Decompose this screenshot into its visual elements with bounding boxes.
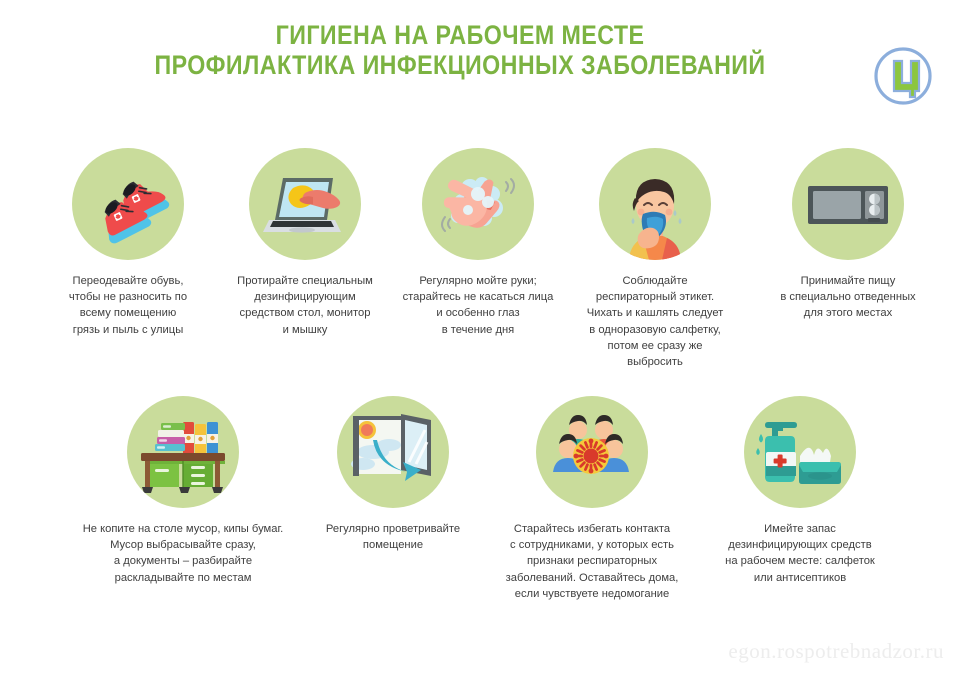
sneakers-icon	[72, 148, 184, 260]
site-watermark: egon.rospotrebnadzor.ru	[728, 639, 944, 664]
tip-card-eat-in-designated-areas: Принимайте пищу в специально отведенных …	[750, 148, 946, 322]
tip-card-keep-disinfectants: Имейте запас дезинфицирующих средств на …	[700, 396, 900, 586]
tip-caption: Не копите на столе мусор, кипы бумаг. Му…	[68, 521, 298, 586]
tip-card-keep-desk-clean: Не копите на столе мусор, кипы бумаг. Му…	[68, 396, 298, 586]
header: ГИГИЕНА НА РАБОЧЕМ МЕСТЕ ПРОФИЛАКТИКА ИН…	[0, 20, 960, 110]
tip-caption: Регулярно мойте руки; старайтесь не каса…	[390, 273, 566, 338]
tip-caption: Старайтесь избегать контакта с сотрудник…	[490, 521, 694, 602]
open-window-airflow-icon	[337, 396, 449, 508]
sanitizer-tissues-icon	[744, 396, 856, 508]
tip-caption: Принимайте пищу в специально отведенных …	[750, 273, 946, 322]
tip-caption: Регулярно проветривайте помещение	[300, 521, 486, 553]
tip-card-ventilate-room: Регулярно проветривайте помещение	[300, 396, 486, 553]
title-line-2: ПРОФИЛАКТИКА ИНФЕКЦИОННЫХ ЗАБОЛЕВАНИЙ	[116, 50, 804, 80]
sneeze-tissue-icon	[599, 148, 711, 260]
tip-caption: Переодевайте обувь, чтобы не разносить п…	[18, 273, 238, 338]
tip-card-respiratory-etiquette: Соблюдайте респираторный этикет. Чихать …	[562, 148, 748, 370]
rospotrebnadzor-logo-icon	[872, 45, 934, 107]
people-virus-icon	[536, 396, 648, 508]
tip-card-wipe-workstation: Протирайте специальным дезинфицирующим с…	[222, 148, 388, 338]
tip-caption: Протирайте специальным дезинфицирующим с…	[222, 273, 388, 338]
tip-card-wash-hands: Регулярно мойте руки; старайтесь не каса…	[390, 148, 566, 338]
tip-card-avoid-sick-contacts: Старайтесь избегать контакта с сотрудник…	[490, 396, 694, 602]
infographic-page: ГИГИЕНА НА РАБОЧЕМ МЕСТЕ ПРОФИЛАКТИКА ИН…	[0, 0, 960, 678]
page-title: ГИГИЕНА НА РАБОЧЕМ МЕСТЕ ПРОФИЛАКТИКА ИН…	[60, 20, 860, 80]
title-line-1: ГИГИЕНА НА РАБОЧЕМ МЕСТЕ	[116, 20, 804, 50]
tip-card-change-shoes: Переодевайте обувь, чтобы не разносить п…	[18, 148, 238, 338]
washing-hands-icon	[422, 148, 534, 260]
laptop-wipe-icon	[249, 148, 361, 260]
tip-caption: Имейте запас дезинфицирующих средств на …	[700, 521, 900, 586]
microwave-icon	[792, 148, 904, 260]
tip-caption: Соблюдайте респираторный этикет. Чихать …	[562, 273, 748, 370]
desk-papers-icon	[127, 396, 239, 508]
